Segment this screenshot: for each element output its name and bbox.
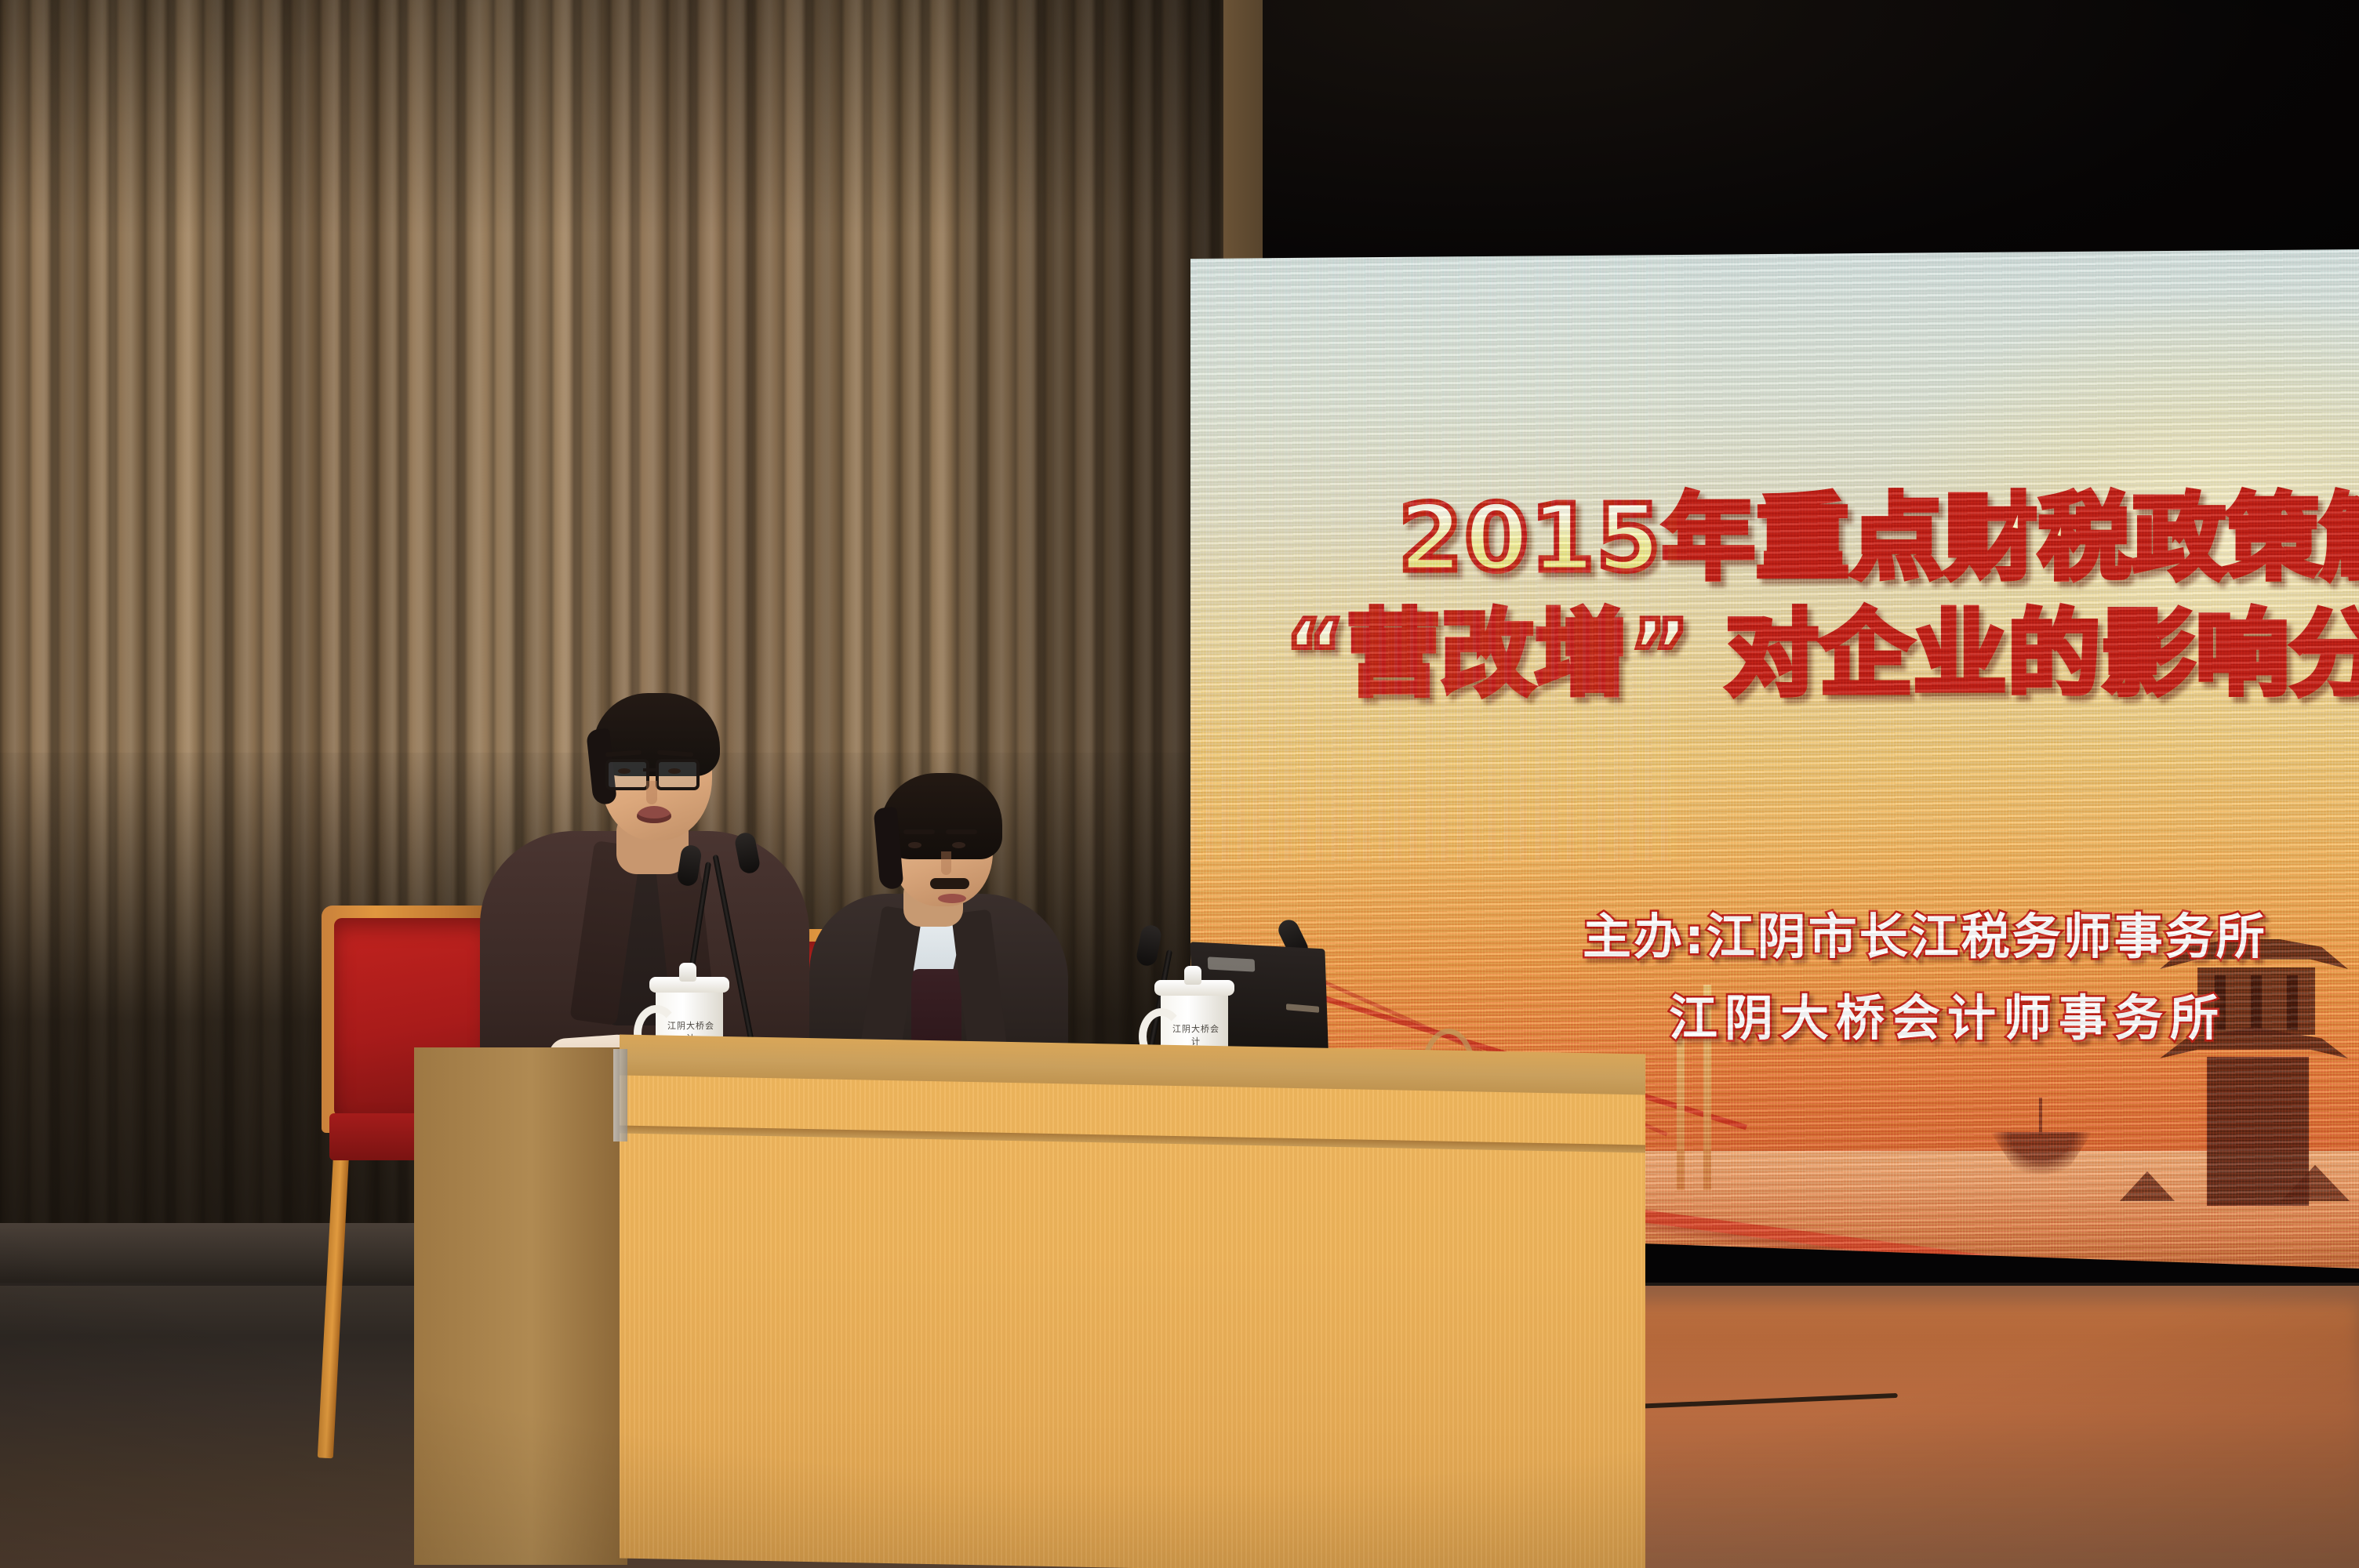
eyeglasses-lens-left	[605, 759, 649, 790]
table-side-panel	[414, 1047, 627, 1565]
panelist-mouth	[938, 894, 966, 903]
panelist-eye-right	[952, 842, 965, 848]
speaker-eye-left	[618, 768, 631, 774]
tea-mug-right-label: 江阴大桥会计	[1169, 1022, 1223, 1047]
eyeglasses-lens-right	[656, 759, 700, 790]
stage-photo-scene: 2015年重点财税政策解析及 “营改增” 对企业的影响分析与应 主办:江阴市长江…	[0, 0, 2359, 1568]
panelist-nose	[941, 851, 951, 875]
panelist-eye-left	[908, 842, 921, 848]
tea-mug-left-knob	[679, 963, 696, 982]
panelist-moustache	[930, 878, 969, 889]
speaker-nose	[646, 781, 657, 804]
table-corner-trim	[613, 1049, 627, 1142]
panelist-eyebrow-right	[946, 829, 977, 834]
speaker-eye-right	[668, 768, 681, 774]
speaker-mouth	[637, 806, 671, 823]
tea-mug-right-knob	[1184, 966, 1201, 985]
panelist-eyebrow-left	[903, 829, 935, 834]
laptop-screen-glare	[1208, 956, 1256, 971]
eyeglasses-bridge	[643, 768, 657, 771]
